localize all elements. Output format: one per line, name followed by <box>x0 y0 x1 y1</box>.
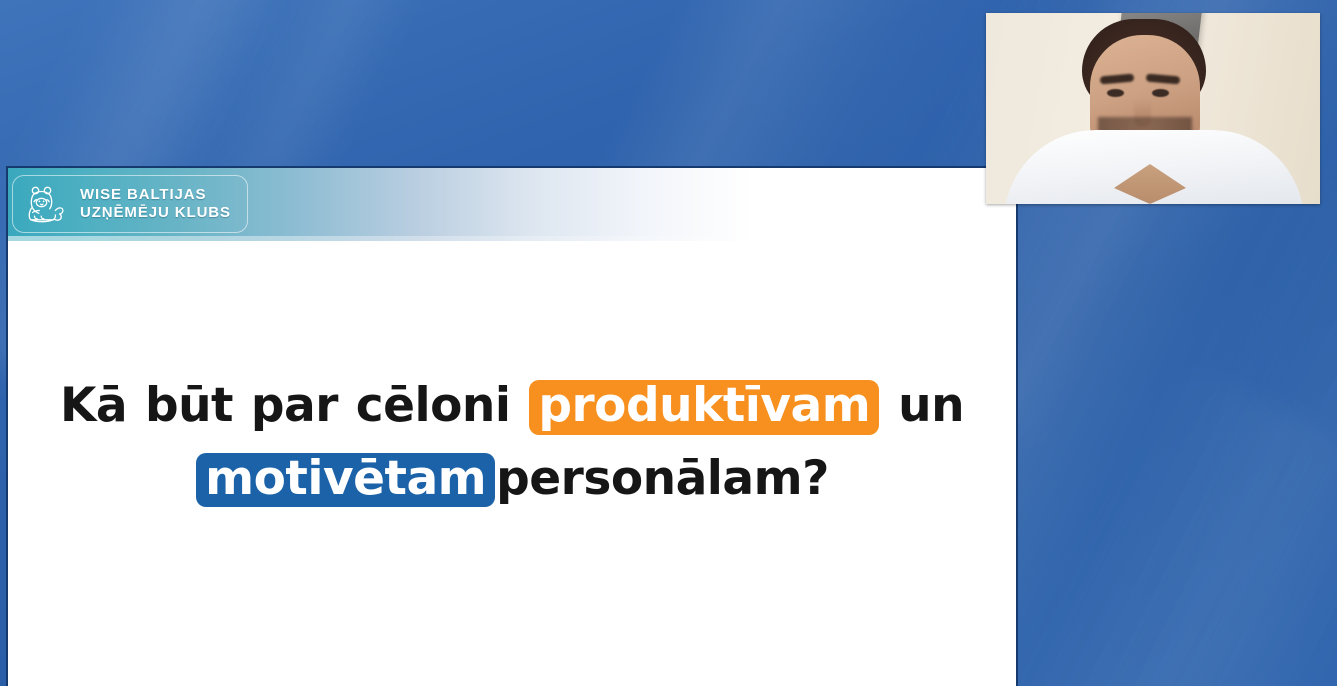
shared-slide[interactable]: WISE BALTIJASUZŅĒMĒJU KLUBS Kā būt par c… <box>6 166 1018 686</box>
headline-line1: Kā būt par cēloni produktīvam un <box>60 378 964 433</box>
headline-line2: motivētampersonālam? <box>48 446 976 513</box>
speaker-video-tile[interactable] <box>986 13 1320 204</box>
brand-name-line2: UZŅĒMĒJU KLUBS <box>80 204 231 221</box>
speaker-eye-right <box>1152 89 1169 97</box>
slide-headline: Kā būt par cēloni produktīvam un motivēt… <box>8 373 1016 512</box>
brand-name: WISE BALTIJASUZŅĒMĒJU KLUBS <box>80 186 231 221</box>
headline-text-suffix: un <box>880 378 964 433</box>
meeting-stage: WISE BALTIJASUZŅĒMĒJU KLUBS Kā būt par c… <box>0 0 1337 686</box>
brand-logo: WISE BALTIJASUZŅĒMĒJU KLUBS <box>12 175 248 233</box>
headline-highlight-produktivam: produktīvam <box>529 380 879 435</box>
headline-highlight-motivetam: motivētam <box>196 453 495 508</box>
brand-name-line1: WISE BALTIJAS <box>80 186 206 203</box>
bear-logo-icon <box>23 182 67 226</box>
headline-text-prefix: Kā būt par cēloni <box>60 378 528 433</box>
slide-logo-band: WISE BALTIJASUZŅĒMĒJU KLUBS <box>8 168 1016 241</box>
headline-text-personalam: personālam? <box>496 451 829 506</box>
speaker-eye-left <box>1107 89 1124 97</box>
